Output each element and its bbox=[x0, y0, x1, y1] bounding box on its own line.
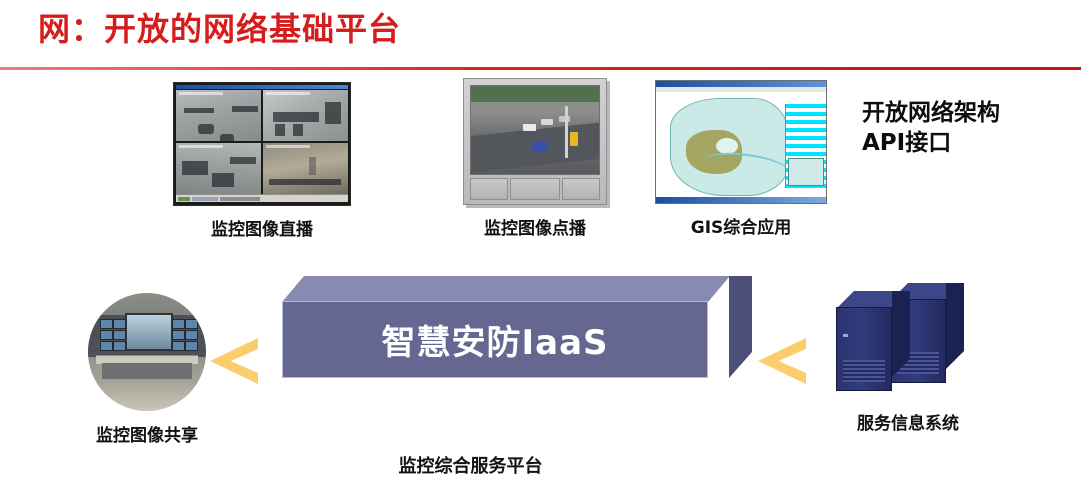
map-canvas bbox=[656, 92, 826, 196]
overview-inset bbox=[788, 158, 824, 186]
main-display bbox=[125, 313, 173, 351]
scene-object bbox=[212, 173, 234, 187]
left-chevron-icon bbox=[758, 338, 806, 384]
wall-tile bbox=[185, 330, 198, 340]
thumbnail-video-on-demand: 监控图像点播 bbox=[440, 78, 630, 239]
wall-tile bbox=[100, 341, 113, 351]
vehicle bbox=[523, 124, 536, 131]
server-front-face bbox=[836, 307, 892, 391]
timestamp-overlay bbox=[179, 92, 223, 95]
page-title: 网：开放的网络基础平台 bbox=[38, 11, 401, 48]
scene-object bbox=[273, 112, 319, 122]
slide-canvas: 网：开放的网络基础平台 bbox=[0, 0, 1081, 490]
vent-grille bbox=[843, 360, 885, 382]
slab-side-face bbox=[729, 276, 752, 378]
scene-object bbox=[198, 124, 214, 134]
tree-line bbox=[471, 86, 600, 102]
light-pole bbox=[565, 106, 568, 158]
node-caption: 监控图像共享 bbox=[62, 421, 232, 446]
cctv-cell bbox=[263, 143, 348, 194]
wall-tile bbox=[100, 319, 113, 329]
platform-bottom-caption-text: 监控综合服务平台 bbox=[399, 456, 543, 477]
thumbnail-gis-application: GIS综合应用 bbox=[648, 80, 834, 238]
scene-object bbox=[275, 124, 285, 136]
slab-top-face bbox=[282, 276, 730, 302]
tv-screen bbox=[470, 85, 600, 175]
scene-object bbox=[230, 157, 256, 164]
platform-bottom-caption: 监控综合服务平台 bbox=[0, 452, 1081, 478]
scene-object bbox=[269, 179, 341, 185]
control-room-photo-icon bbox=[88, 293, 206, 411]
node-service-information-system: 服务信息系统 bbox=[818, 283, 998, 434]
status-bar bbox=[656, 197, 826, 203]
thumbnail-caption: 监控图像直播 bbox=[162, 215, 362, 240]
wall-tile bbox=[100, 330, 113, 340]
slab-front-face: 智慧安防IaaS bbox=[282, 301, 708, 378]
server-side-face bbox=[946, 283, 964, 369]
floor-area bbox=[88, 383, 206, 411]
wall-tile bbox=[113, 319, 126, 329]
lake-shape bbox=[716, 138, 738, 154]
cctv-cell bbox=[176, 90, 261, 141]
api-note-line-2: API接口 bbox=[862, 128, 1000, 158]
wall-tile bbox=[185, 341, 198, 351]
window-titlebar bbox=[176, 85, 348, 89]
slab-label: 智慧安防IaaS bbox=[381, 315, 608, 364]
title-divider bbox=[0, 67, 1081, 70]
node-caption: 服务信息系统 bbox=[818, 409, 998, 434]
cctv-cell bbox=[263, 90, 348, 141]
timestamp-overlay bbox=[266, 92, 310, 95]
api-note: 开放网络架构 API接口 bbox=[862, 98, 1000, 159]
crt-television-icon bbox=[463, 78, 607, 205]
wall-tile bbox=[113, 341, 126, 351]
server-stack-icon bbox=[828, 283, 988, 401]
timestamp-overlay bbox=[266, 145, 310, 148]
node-image-sharing: 监控图像共享 bbox=[62, 293, 232, 446]
scene-object bbox=[325, 102, 341, 124]
scene-object bbox=[184, 108, 214, 113]
scene-object bbox=[182, 161, 208, 175]
cctv-cell bbox=[176, 143, 261, 194]
status-bar bbox=[176, 194, 348, 202]
scene-object bbox=[309, 157, 316, 175]
thumbnail-live-monitoring: 监控图像直播 bbox=[162, 82, 362, 240]
timestamp-overlay bbox=[179, 145, 223, 148]
scene-object bbox=[293, 124, 303, 136]
console-desk-front bbox=[102, 363, 192, 379]
status-led bbox=[843, 334, 848, 337]
scene-object bbox=[220, 134, 234, 141]
cctv-quad-view-icon bbox=[173, 82, 351, 206]
vehicle bbox=[531, 142, 547, 151]
traffic-signal bbox=[570, 132, 578, 146]
vehicle bbox=[541, 119, 553, 125]
thumbnail-caption: GIS综合应用 bbox=[648, 213, 834, 238]
thumbnail-caption: 监控图像点播 bbox=[440, 214, 630, 239]
wall-tile bbox=[172, 319, 185, 329]
wall-tile bbox=[172, 330, 185, 340]
api-note-line-1: 开放网络架构 bbox=[862, 98, 1000, 128]
scene-object bbox=[232, 106, 258, 112]
wall-tile bbox=[172, 341, 185, 351]
platform-slab: 智慧安防IaaS bbox=[282, 276, 752, 384]
gis-map-window-icon bbox=[655, 80, 827, 204]
tv-base-panel bbox=[470, 175, 600, 204]
cctv-grid bbox=[176, 90, 348, 194]
wall-tile bbox=[113, 330, 126, 340]
server-tower bbox=[836, 291, 892, 375]
wall-tile bbox=[185, 319, 198, 329]
